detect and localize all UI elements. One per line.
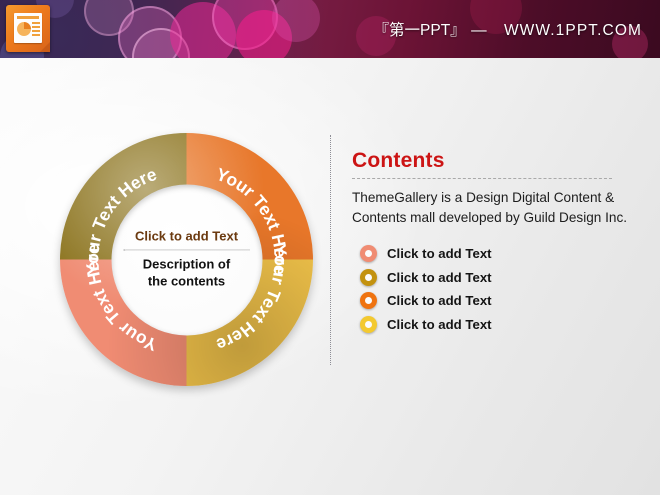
powerpoint-document-glyph — [14, 13, 42, 43]
header-title-cjk: 『第一PPT』 — [374, 22, 466, 39]
list-item[interactable]: Click to add Text — [360, 269, 638, 286]
header-title-dash: — — [471, 22, 488, 39]
donut-center[interactable]: Click to add Text Description of the con… — [111, 184, 262, 335]
header-banner: 『第一PPT』 — WWW.1PPT.COM — [0, 0, 660, 58]
powerpoint-icon — [6, 5, 50, 52]
bullet-ring-icon — [360, 292, 377, 309]
vertical-divider — [330, 135, 331, 365]
slide-body: Your Text Here Your Text Here Your Text … — [0, 58, 660, 495]
donut-center-title: Click to add Text — [118, 229, 256, 244]
slide: 『第一PPT』 — WWW.1PPT.COM Your Text Here — [0, 0, 660, 495]
header-title: 『第一PPT』 — WWW.1PPT.COM — [374, 18, 642, 40]
donut-center-description-line1: Description of — [118, 256, 256, 273]
footer: 第一PPT HTTP://WWW.1PPT.COM — [0, 452, 660, 495]
list-item[interactable]: Click to add Text — [360, 316, 638, 333]
bullet-label: Click to add Text — [387, 270, 492, 285]
bullet-label: Click to add Text — [387, 317, 492, 332]
powerpoint-pie-glyph — [17, 22, 31, 36]
donut-center-divider — [124, 249, 250, 250]
powerpoint-lines-glyph — [32, 22, 40, 38]
panel-rule — [352, 178, 612, 179]
list-item[interactable]: Click to add Text — [360, 292, 638, 309]
donut-center-description: Description of the contents — [118, 256, 256, 289]
bullet-ring-icon — [360, 316, 377, 333]
powerpoint-titlebar-glyph — [17, 16, 39, 19]
bullet-ring-icon — [360, 269, 377, 286]
panel-title: Contents — [352, 150, 638, 171]
bokeh-circle — [272, 0, 320, 42]
bullet-list: Click to add Text Click to add Text Clic… — [360, 245, 638, 333]
bullet-ring-icon — [360, 245, 377, 262]
header-title-url: WWW.1PPT.COM — [504, 22, 642, 39]
donut-diagram: Your Text Here Your Text Here Your Text … — [60, 133, 313, 386]
list-item[interactable]: Click to add Text — [360, 245, 638, 262]
bullet-label: Click to add Text — [387, 246, 492, 261]
donut-center-description-line2: the contents — [118, 273, 256, 290]
contents-panel: Contents ThemeGallery is a Design Digita… — [352, 150, 638, 339]
bullet-label: Click to add Text — [387, 293, 492, 308]
panel-body-text: ThemeGallery is a Design Digital Content… — [352, 188, 638, 227]
